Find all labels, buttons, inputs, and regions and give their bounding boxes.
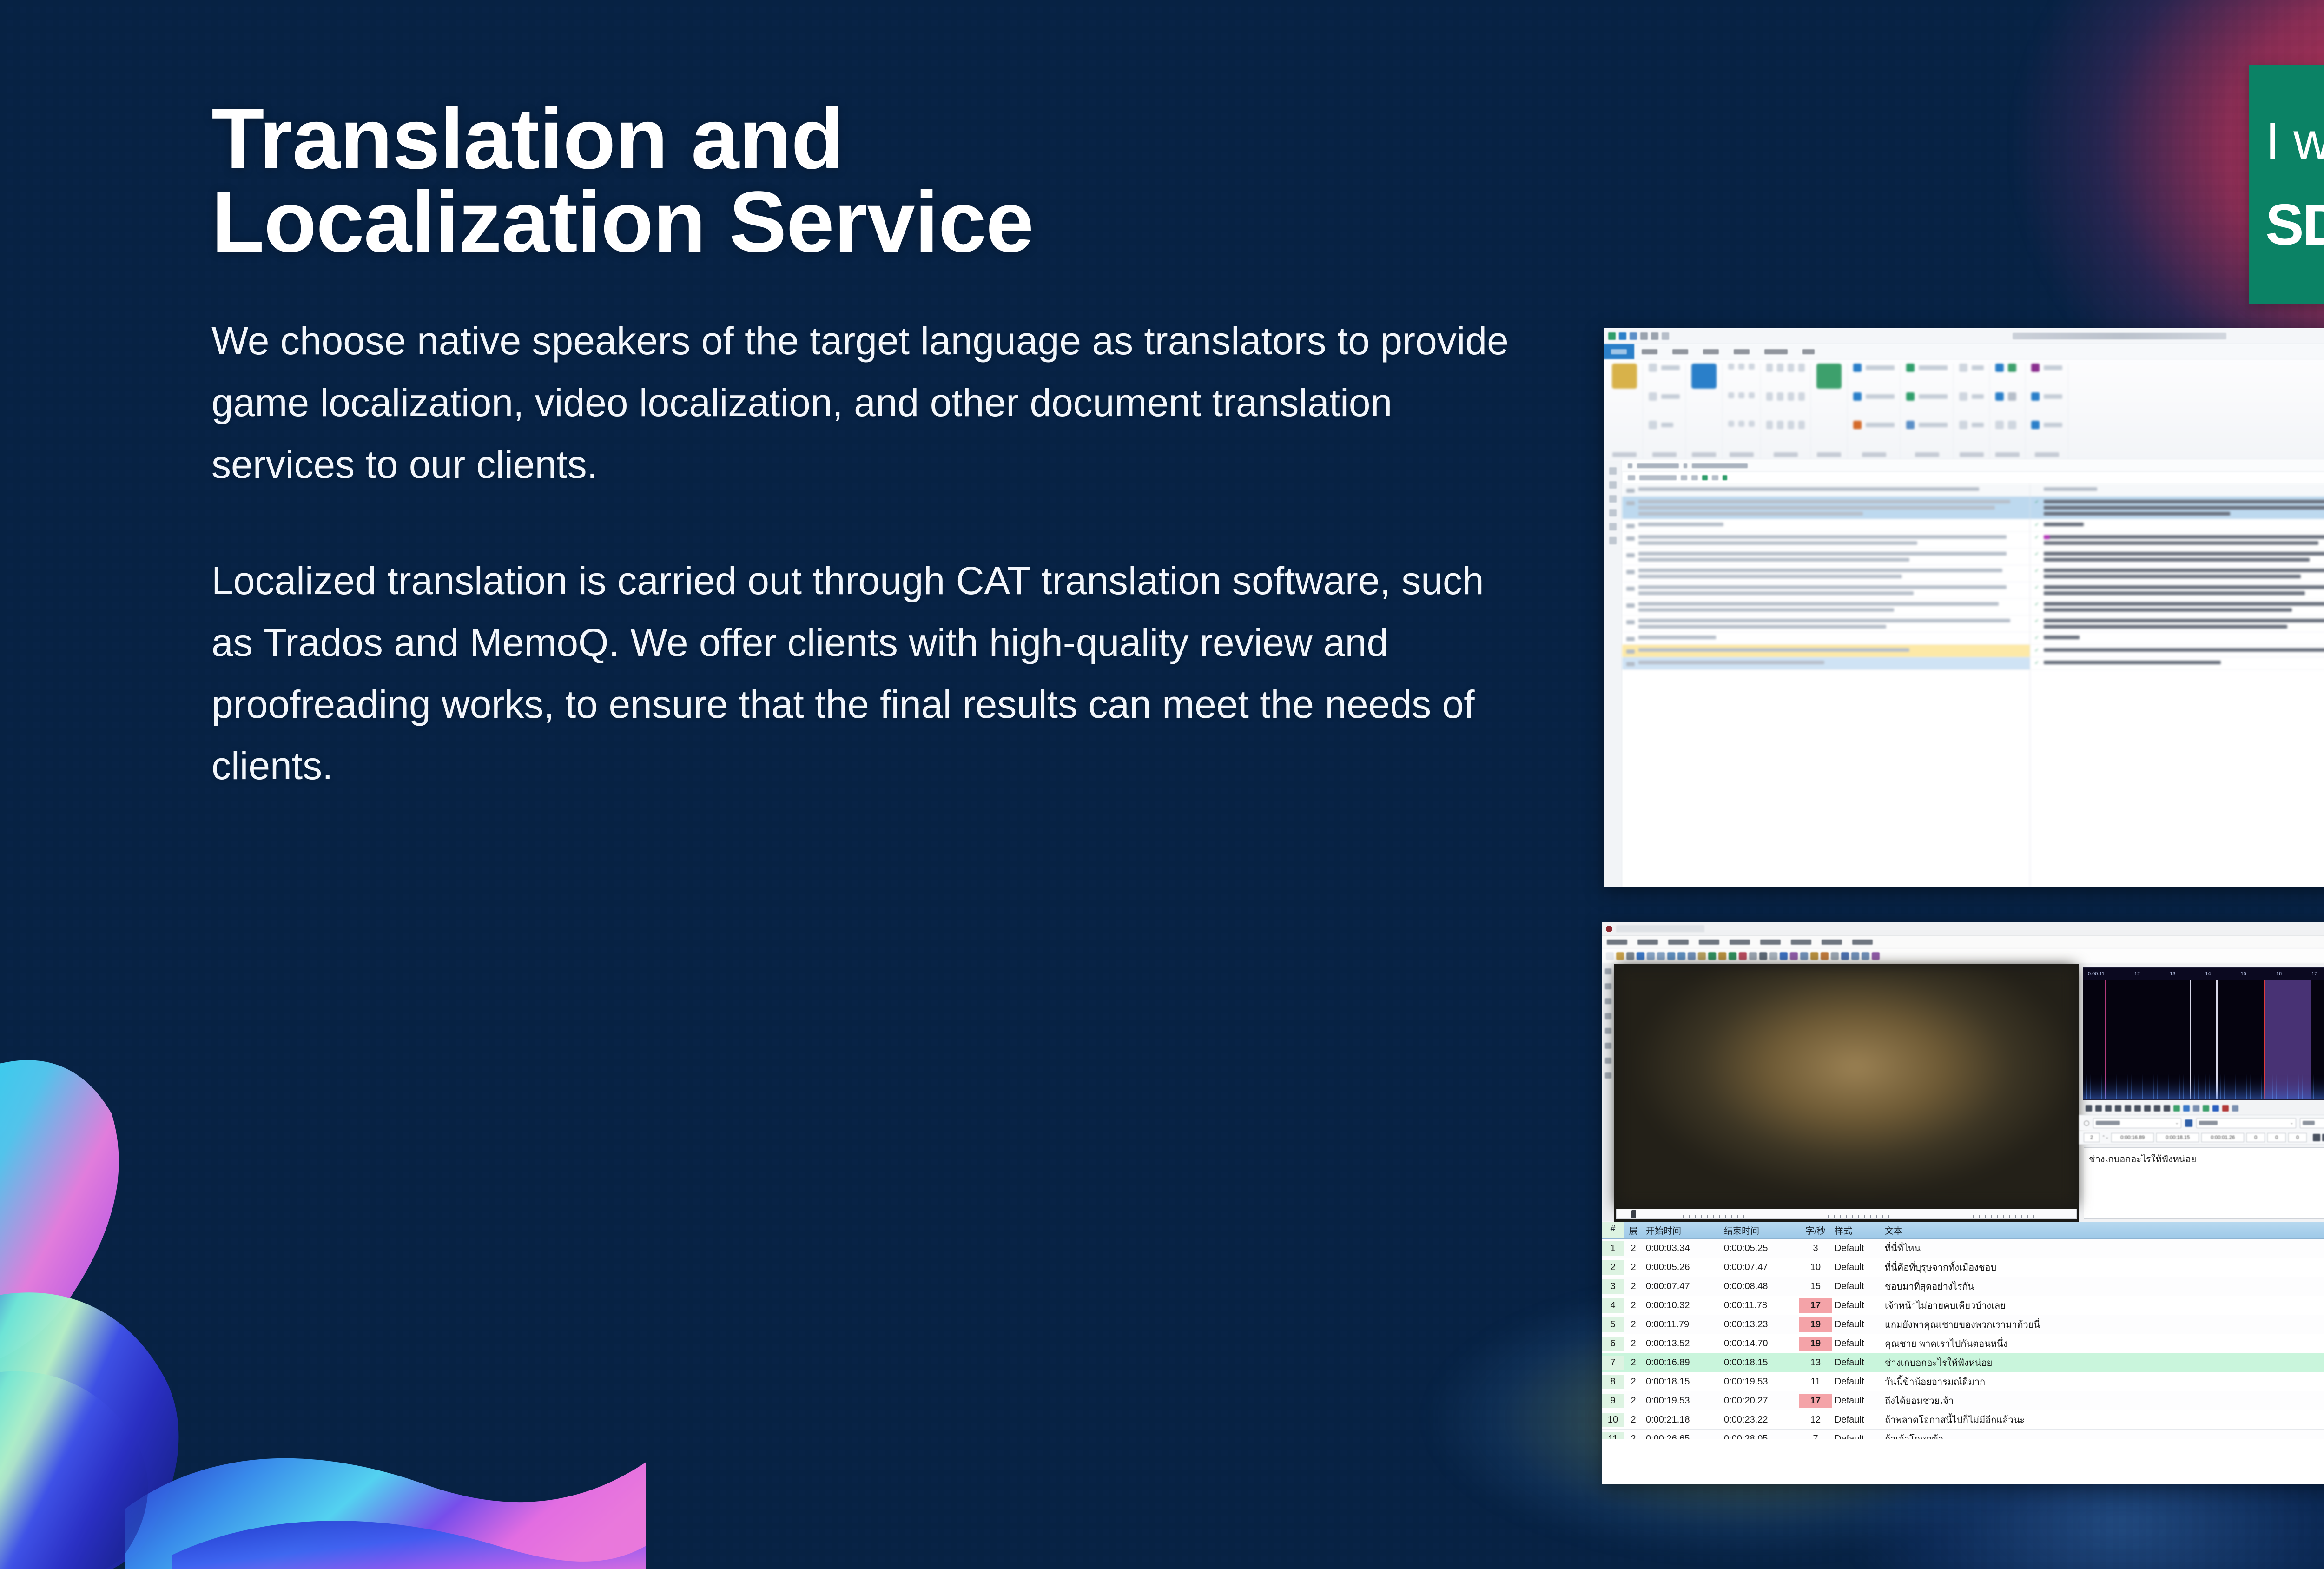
cell-end-time: 0:00:07.47 <box>1721 1260 1799 1275</box>
play-line-icon[interactable] <box>1810 952 1818 960</box>
cell-cps: 10 <box>1799 1260 1832 1275</box>
menu-automation[interactable] <box>1791 940 1811 945</box>
bold-icon[interactable] <box>2313 1134 2320 1141</box>
table-row: ✓ <box>2030 632 2324 645</box>
video-side-rail[interactable] <box>1602 964 1614 1222</box>
app-icon <box>1606 926 1612 932</box>
rotate-icon[interactable] <box>1605 998 1611 1004</box>
cell-layer: 2 <box>1624 1432 1643 1440</box>
attachments-icon[interactable] <box>1698 952 1706 960</box>
ruler-tick: 14 <box>2205 971 2211 977</box>
table-row[interactable]: 120:00:03.340:00:05.253Defaultที่นี่ที่ไ… <box>1602 1239 2324 1258</box>
cell-index: 11 <box>1602 1432 1624 1440</box>
cell-text: แกมยังพาคุณเชายของพวกเรามาด้วยนี่ <box>1882 1315 2324 1334</box>
cell-index: 6 <box>1602 1337 1624 1351</box>
table-row <box>1622 549 2030 565</box>
table-row <box>1622 497 2030 519</box>
style-label: ◯ <box>2084 1120 2089 1126</box>
ribbon-group-navigation[interactable] <box>1990 364 2026 459</box>
cell-text: คุณชาย พาคเราไปกันตอนหนึ่ง <box>1882 1334 2324 1353</box>
menu-view[interactable] <box>1822 940 1842 945</box>
video-seek-bar[interactable] <box>1616 1209 2077 1219</box>
redo-icon[interactable] <box>1651 332 1658 340</box>
timing-row[interactable]: 2 ⌃⌄ 0:00:16.89 0:00:18.15 0:00:01.26 0 … <box>2079 1131 2324 1145</box>
table-row <box>1622 632 2030 645</box>
cell-index: 8 <box>1602 1375 1624 1389</box>
table-row: ✓ <box>2030 565 2324 582</box>
select-lines-icon[interactable] <box>1769 952 1777 960</box>
table-row[interactable]: 420:00:10.320:00:11.7817Defaultเจ้าหน้าไ… <box>1602 1296 2324 1315</box>
waveform-ruler: 0:00:11 12 13 14 15 16 17 18 19 20 21 22… <box>2083 968 2324 980</box>
open-audio-icon[interactable] <box>1657 952 1665 960</box>
ribbon-group-quickinsert[interactable] <box>1761 364 1811 459</box>
menu-edit[interactable] <box>1637 940 1658 945</box>
cell-cps: 19 <box>1799 1337 1832 1351</box>
cell-start-time: 0:00:13.52 <box>1643 1337 1721 1351</box>
trados-left-rail[interactable] <box>1604 460 1622 887</box>
cell-style: Default <box>1832 1375 1882 1389</box>
editor-icon[interactable] <box>1609 523 1617 530</box>
table-header: # 层 开始时间 结束时间 字/秒 样式 文本 <box>1602 1222 2324 1239</box>
cell-text: ชอบมาที่สุดอย่างไรกัน <box>1882 1277 2324 1296</box>
duration-field[interactable]: 0:00:01.26 <box>2201 1133 2244 1142</box>
cell-end-time: 0:00:28.05 <box>1721 1432 1799 1440</box>
menu-file[interactable] <box>1607 940 1627 945</box>
drag-icon[interactable] <box>1605 1058 1611 1064</box>
cell-start-time: 0:00:16.89 <box>1643 1356 1721 1370</box>
cell-end-time: 0:00:20.27 <box>1721 1394 1799 1408</box>
sdl-trados-badge: I work with SDL * Trados <box>2249 65 2324 304</box>
table-row[interactable]: 520:00:11.790:00:13.2319Defaultแกมยังพาค… <box>1602 1315 2324 1334</box>
autoscroll-icon[interactable] <box>1851 952 1859 960</box>
table-row <box>1622 616 2030 632</box>
timing-postprocessor-icon[interactable] <box>1749 952 1757 960</box>
cell-start-time: 0:00:19.53 <box>1643 1394 1721 1408</box>
play-to-end-icon[interactable] <box>2164 1105 2170 1112</box>
column-header-index[interactable]: # <box>1602 1222 1624 1238</box>
ruler-tick: 0:00:11 <box>2088 971 2105 977</box>
play-before-icon[interactable] <box>2125 1105 2131 1112</box>
trados-ribbon[interactable] <box>1604 360 2324 460</box>
tab-review[interactable] <box>1665 344 1696 359</box>
properties-icon[interactable] <box>1708 952 1716 960</box>
trados-editor-area: ✓ ✓ ✓ ✓ ✓ ✓ ✓ ✓ ✓ ✓ ✓ <box>1622 460 2324 887</box>
source-column[interactable] <box>1622 484 2030 887</box>
autoscroll-icon[interactable] <box>2212 1105 2219 1112</box>
cell-end-time: 0:00:18.15 <box>1721 1356 1799 1370</box>
cell-end-time: 0:00:05.25 <box>1721 1241 1799 1256</box>
ruler-tick: 15 <box>2241 971 2246 977</box>
trados-ribbon-tabs[interactable] <box>1604 344 2324 360</box>
ruler-tick: 13 <box>2170 971 2175 977</box>
ribbon-group-terminology[interactable] <box>2026 364 2068 459</box>
ribbon-group-quality[interactable] <box>1954 364 1990 459</box>
column-header-cps[interactable]: 字/秒 <box>1799 1222 1832 1238</box>
margin-vertical-field[interactable]: 0 <box>2288 1133 2307 1142</box>
spectrum-icon[interactable] <box>2232 1105 2238 1112</box>
cell-index: 1 <box>1602 1241 1624 1256</box>
table-body: 120:00:03.340:00:05.253Defaultที่นี่ที่ไ… <box>1602 1239 2324 1439</box>
cell-text: ถ้าพลาดโอกาสนี้ไปก็ไม่มีอีกแล้วนะ <box>1882 1410 2324 1429</box>
table-row[interactable]: 220:00:05.260:00:07.4710Defaultที่นี่คือ… <box>1602 1258 2324 1277</box>
page-title: Translation and Localization Service <box>211 98 1527 264</box>
table-row <box>1622 599 2030 616</box>
menu-video[interactable] <box>1730 940 1750 945</box>
undo-icon[interactable] <box>1640 332 1648 340</box>
body-paragraph-2: Localized translation is carried out thr… <box>211 550 1513 797</box>
table-row: ✓ <box>2030 519 2324 532</box>
ribbon-group-edit[interactable] <box>1643 364 1686 459</box>
play-after-icon[interactable] <box>2134 1105 2141 1112</box>
segment-grid[interactable]: ✓ ✓ ✓ ✓ ✓ ✓ ✓ ✓ ✓ ✓ ✓ <box>1622 484 2324 887</box>
trados-quick-access-toolbar[interactable] <box>1604 328 2324 344</box>
table-row: ✓ <box>2030 599 2324 616</box>
cell-end-time: 0:00:23.22 <box>1721 1413 1799 1427</box>
editor-toolbar[interactable] <box>1622 472 2324 484</box>
audio-from-video-icon[interactable] <box>1667 952 1675 960</box>
ribbon-group-confirm[interactable] <box>1901 364 1954 459</box>
table-row <box>2030 484 2324 497</box>
cell-end-time: 0:00:19.53 <box>1721 1375 1799 1389</box>
tab-addins[interactable] <box>1757 344 1795 359</box>
table-row: ✓ <box>2030 657 2324 670</box>
cell-index: 4 <box>1602 1298 1624 1313</box>
save-icon[interactable] <box>1608 332 1616 340</box>
cell-end-time: 0:00:11.78 <box>1721 1298 1799 1313</box>
cell-start-time: 0:00:26.65 <box>1643 1432 1721 1440</box>
actor-icon[interactable] <box>2185 1119 2192 1127</box>
cell-style: Default <box>1832 1317 1882 1332</box>
cell-layer: 2 <box>1624 1375 1643 1389</box>
waveform-canvas[interactable] <box>2083 980 2324 1099</box>
subtitle-text-editor[interactable]: ช่างเกบอกอะไรให้ฟังหน่อย <box>2084 1147 2324 1219</box>
karaoke-icon[interactable] <box>1872 952 1880 960</box>
window-title-placeholder <box>2013 333 2226 339</box>
cell-start-time: 0:00:03.34 <box>1643 1241 1721 1256</box>
welcome-icon[interactable] <box>1609 467 1617 475</box>
trados-studio-screenshot: ✓ ✓ ✓ ✓ ✓ ✓ ✓ ✓ ✓ ✓ ✓ <box>1604 328 2324 887</box>
badge-tagline: I work with <box>2265 115 2324 167</box>
cell-style: Default <box>1832 1279 1882 1294</box>
cell-text: ถึงได้ยอมช่วยเจ้า <box>1882 1391 2324 1410</box>
seek-handle[interactable] <box>1631 1210 1636 1218</box>
chevron-down-icon[interactable] <box>1662 332 1669 340</box>
ruler-tick: 17 <box>2311 971 2317 977</box>
trados-workspace: ✓ ✓ ✓ ✓ ✓ ✓ ✓ ✓ ✓ ✓ ✓ <box>1604 460 2324 887</box>
subtitle-toolbar[interactable] <box>1602 949 2324 964</box>
margin-right-field[interactable]: 0 <box>2267 1133 2286 1142</box>
table-row: ✓ <box>2030 616 2324 632</box>
play-line-icon[interactable] <box>2095 1105 2102 1112</box>
slide-text-content: Translation and Localization Service We … <box>211 98 1527 797</box>
table-row <box>1622 565 2030 582</box>
fonts-collector-icon[interactable] <box>1718 952 1726 960</box>
subtitle-mid-area: 0:00:11 12 13 14 15 16 17 18 19 20 21 22… <box>1602 964 2324 1222</box>
document-tab-bar[interactable] <box>1622 460 2324 472</box>
audio-waveform[interactable]: 0:00:11 12 13 14 15 16 17 18 19 20 21 22… <box>2083 967 2324 1100</box>
cell-layer: 2 <box>1624 1413 1643 1427</box>
autonext-icon[interactable] <box>2222 1105 2229 1112</box>
audio-transport-controls[interactable] <box>2079 1102 2324 1115</box>
shift-times-icon[interactable] <box>1739 952 1747 960</box>
cell-index: 5 <box>1602 1317 1624 1332</box>
cell-style: Default <box>1832 1356 1882 1370</box>
cell-style: Default <box>1832 1413 1882 1427</box>
vector-clip-icon[interactable] <box>1605 1043 1611 1049</box>
table-row[interactable]: 920:00:19.530:00:20.2717Defaultถึงได้ยอม… <box>1602 1391 2324 1410</box>
cell-layer: 2 <box>1624 1298 1643 1313</box>
menu-help[interactable] <box>1852 940 1873 945</box>
column-header-layer[interactable]: 层 <box>1624 1222 1643 1238</box>
files-icon[interactable] <box>1609 495 1617 503</box>
table-row: ✓ <box>2030 497 2324 519</box>
karaoke-mode-icon[interactable] <box>2183 1105 2190 1112</box>
menu-audio[interactable] <box>1760 940 1781 945</box>
cycle-icon[interactable] <box>1841 952 1849 960</box>
ribbon-group-document[interactable] <box>1686 364 1723 459</box>
cell-start-time: 0:00:05.26 <box>1643 1260 1721 1275</box>
body-paragraph-1: We choose native speakers of the target … <box>211 310 1513 495</box>
table-row <box>1622 484 2030 497</box>
cell-index: 7 <box>1602 1356 1624 1370</box>
cell-index: 10 <box>1602 1413 1624 1427</box>
cell-layer: 2 <box>1624 1279 1643 1294</box>
cell-text: ถ้าเจ้าโกหกข้า <box>1882 1430 2324 1439</box>
cell-index: 3 <box>1602 1279 1624 1294</box>
table-row: ✓ <box>2030 582 2324 599</box>
table-row: ✓ <box>2030 645 2324 657</box>
cell-cps: 19 <box>1799 1317 1832 1332</box>
badge-logo-lockup: SDL * Trados <box>2265 196 2324 254</box>
reports-icon[interactable] <box>1609 509 1617 516</box>
stop-icon[interactable] <box>2115 1105 2121 1112</box>
cell-layer: 2 <box>1624 1337 1643 1351</box>
table-row <box>1622 519 2030 532</box>
effect-field[interactable]: ⌄ <box>2300 1118 2324 1128</box>
play-icon[interactable] <box>2086 1105 2092 1112</box>
tab-help[interactable] <box>1795 344 1822 359</box>
play-last-icon[interactable] <box>2154 1105 2160 1112</box>
cell-text: เจ้าหน้าไม่อายคบเคียวบ้างเลย <box>1882 1296 2324 1315</box>
play-first-icon[interactable] <box>2144 1105 2151 1112</box>
cell-layer: 2 <box>1624 1356 1643 1370</box>
cell-style: Default <box>1832 1337 1882 1351</box>
play-selection-icon[interactable] <box>1821 952 1829 960</box>
vertical-zoom-icon[interactable] <box>1862 952 1869 960</box>
ribbon-group-translation-memory[interactable] <box>1848 364 1901 459</box>
cell-cps: 17 <box>1799 1394 1832 1408</box>
cell-layer: 2 <box>1624 1394 1643 1408</box>
style-dropdown[interactable]: ⌄ <box>2093 1118 2181 1128</box>
close-video-icon[interactable] <box>1647 952 1655 960</box>
cell-layer: 2 <box>1624 1241 1643 1256</box>
start-time-field[interactable]: 0:00:16.89 <box>2111 1133 2154 1142</box>
table-row[interactable]: 1020:00:21.180:00:23.2212Defaultถ้าพลาดโ… <box>1602 1410 2324 1430</box>
scale-icon[interactable] <box>1605 1013 1611 1019</box>
table-row <box>1622 532 2030 549</box>
autocommit-icon[interactable] <box>2203 1105 2209 1112</box>
tab-home[interactable] <box>1634 344 1665 359</box>
cell-index: 2 <box>1602 1260 1624 1275</box>
ruler-tick: 12 <box>2134 971 2140 977</box>
cell-layer: 2 <box>1624 1260 1643 1275</box>
open-icon[interactable] <box>1619 332 1626 340</box>
title-line-2: Localization Service <box>211 181 1527 264</box>
cell-end-time: 0:00:08.48 <box>1721 1279 1799 1294</box>
sdl-wordmark: SDL <box>2265 196 2324 254</box>
translation-assistant-icon[interactable] <box>1790 952 1798 960</box>
target-column[interactable]: ✓ ✓ ✓ ✓ ✓ ✓ ✓ ✓ ✓ ✓ ✓ <box>2030 484 2324 887</box>
cell-cps: 3 <box>1799 1241 1832 1256</box>
cell-style: Default <box>1832 1298 1882 1313</box>
actor-dropdown[interactable]: ⌄ <box>2196 1118 2296 1128</box>
tab-file[interactable] <box>1604 344 1634 359</box>
cell-start-time: 0:00:10.32 <box>1643 1298 1721 1313</box>
table-row <box>1622 645 2030 657</box>
cell-cps: 12 <box>1799 1413 1832 1427</box>
table-row: ✓ <box>2030 549 2324 565</box>
stop-icon[interactable] <box>1831 952 1839 960</box>
clip-icon[interactable] <box>1605 1028 1611 1034</box>
cell-style: Default <box>1832 1432 1882 1440</box>
column-header-text[interactable]: 文本 <box>1882 1222 2324 1238</box>
ribbon-group-segment[interactable] <box>1811 364 1848 459</box>
table-row <box>1622 657 2030 670</box>
table-row[interactable]: 720:00:16.890:00:18.1513Defaultช่างเกบอก… <box>1602 1353 2324 1372</box>
video-preview[interactable] <box>1614 964 2079 1222</box>
window-title-placeholder <box>1616 925 1704 932</box>
cell-style: Default <box>1832 1241 1882 1256</box>
cell-end-time: 0:00:13.23 <box>1721 1317 1799 1332</box>
cell-text: ช่างเกบอกอะไรให้ฟังหน่อย <box>1882 1353 2324 1372</box>
cell-cps: 11 <box>1799 1375 1832 1389</box>
tm-icon[interactable] <box>1609 537 1617 544</box>
cell-style: Default <box>1832 1260 1882 1275</box>
subtitle-editor-screenshot: – ▫ ✕ <box>1602 922 2324 1484</box>
styles-manager-icon[interactable] <box>1688 952 1696 960</box>
margin-left-field[interactable]: 0 <box>2246 1133 2265 1142</box>
audio-display-icon[interactable] <box>1605 968 1611 974</box>
subtitle-menu-bar[interactable] <box>1602 936 2324 949</box>
ribbon-group-formatting[interactable] <box>1723 364 1761 459</box>
cell-cps: 17 <box>1799 1298 1832 1313</box>
cell-cps: 7 <box>1799 1432 1832 1440</box>
new-subtitles-icon[interactable] <box>1606 952 1614 960</box>
ribbon-group-clipboard[interactable] <box>1606 364 1643 459</box>
menu-subtitle[interactable] <box>1668 940 1689 945</box>
open-video-icon[interactable] <box>1637 952 1644 960</box>
style-row[interactable]: ◯ ⌄ ⌄ ⌄ <box>2079 1115 2324 1131</box>
slide-canvas: Translation and Localization Service We … <box>0 0 2324 1569</box>
subtitle-lines-table[interactable]: # 层 开始时间 结束时间 字/秒 样式 文本 120:00:03.340:00… <box>1602 1222 2324 1439</box>
resample-icon[interactable] <box>1729 952 1736 960</box>
cell-start-time: 0:00:07.47 <box>1643 1279 1721 1294</box>
table-row: ✓ <box>2030 532 2324 549</box>
saveall-icon[interactable] <box>1630 332 1637 340</box>
subtitle-window-titlebar: – ▫ ✕ <box>1602 922 2324 936</box>
table-row <box>1622 582 2030 599</box>
cell-layer: 2 <box>1624 1317 1643 1332</box>
italic-icon[interactable] <box>2322 1134 2324 1141</box>
cell-start-time: 0:00:18.15 <box>1643 1375 1721 1389</box>
cell-style: Default <box>1832 1394 1882 1408</box>
origin-icon[interactable] <box>1605 1072 1611 1079</box>
cell-end-time: 0:00:14.70 <box>1721 1337 1799 1351</box>
waveform-amplitude <box>2083 1073 2324 1099</box>
kanji-timer-icon[interactable] <box>1759 952 1767 960</box>
video-frame <box>1617 967 2076 1206</box>
cell-text: ที่นี่ที่ไหน <box>1882 1239 2324 1258</box>
pause-icon[interactable] <box>2105 1105 2112 1112</box>
table-row[interactable]: 1120:00:26.650:00:28.057Defaultถ้าเจ้าโก… <box>1602 1430 2324 1439</box>
table-row[interactable]: 820:00:18.150:00:19.5311Defaultวันนี้ข้า… <box>1602 1372 2324 1391</box>
cell-start-time: 0:00:11.79 <box>1643 1317 1721 1332</box>
menu-timing[interactable] <box>1699 940 1719 945</box>
column-header-start[interactable]: 开始时间 <box>1643 1222 1721 1238</box>
cell-cps: 13 <box>1799 1356 1832 1370</box>
cell-start-time: 0:00:21.18 <box>1643 1413 1721 1427</box>
cell-index: 9 <box>1602 1394 1624 1408</box>
jump-to-icon[interactable] <box>1800 952 1808 960</box>
title-line-1: Translation and <box>211 98 1527 181</box>
ruler-tick: 16 <box>2276 971 2282 977</box>
tab-advanced[interactable] <box>1696 344 1726 359</box>
commit-icon[interactable] <box>2173 1105 2180 1112</box>
table-row[interactable]: 320:00:07.470:00:08.4815Defaultชอบมาที่ส… <box>1602 1277 2324 1296</box>
tab-view[interactable] <box>1726 344 1757 359</box>
column-header-style[interactable]: 样式 <box>1832 1222 1882 1238</box>
close-audio-icon[interactable] <box>1677 952 1685 960</box>
goto-icon[interactable] <box>2193 1105 2199 1112</box>
spell-check-icon[interactable] <box>1780 952 1788 960</box>
audio-panel: 0:00:11 12 13 14 15 16 17 18 19 20 21 22… <box>2079 964 2324 1222</box>
projects-icon[interactable] <box>1609 481 1617 489</box>
move-icon[interactable] <box>1605 983 1611 989</box>
open-subtitles-icon[interactable] <box>1616 952 1624 960</box>
column-header-end[interactable]: 结束时间 <box>1721 1222 1799 1238</box>
end-time-field[interactable]: 0:00:18.15 <box>2156 1133 2199 1142</box>
layer-field[interactable]: 2 <box>2084 1133 2100 1142</box>
cell-text: วันนี้ข้าน้อยอารมณ์ดีมาก <box>1882 1372 2324 1391</box>
save-subtitles-icon[interactable] <box>1626 952 1634 960</box>
table-row[interactable]: 620:00:13.520:00:14.7019Defaultคุณชาย พา… <box>1602 1334 2324 1353</box>
cell-cps: 15 <box>1799 1279 1832 1294</box>
cell-text: ที่นี่คือที่บุรุษจากทั้งเมืองชอบ <box>1882 1258 2324 1277</box>
